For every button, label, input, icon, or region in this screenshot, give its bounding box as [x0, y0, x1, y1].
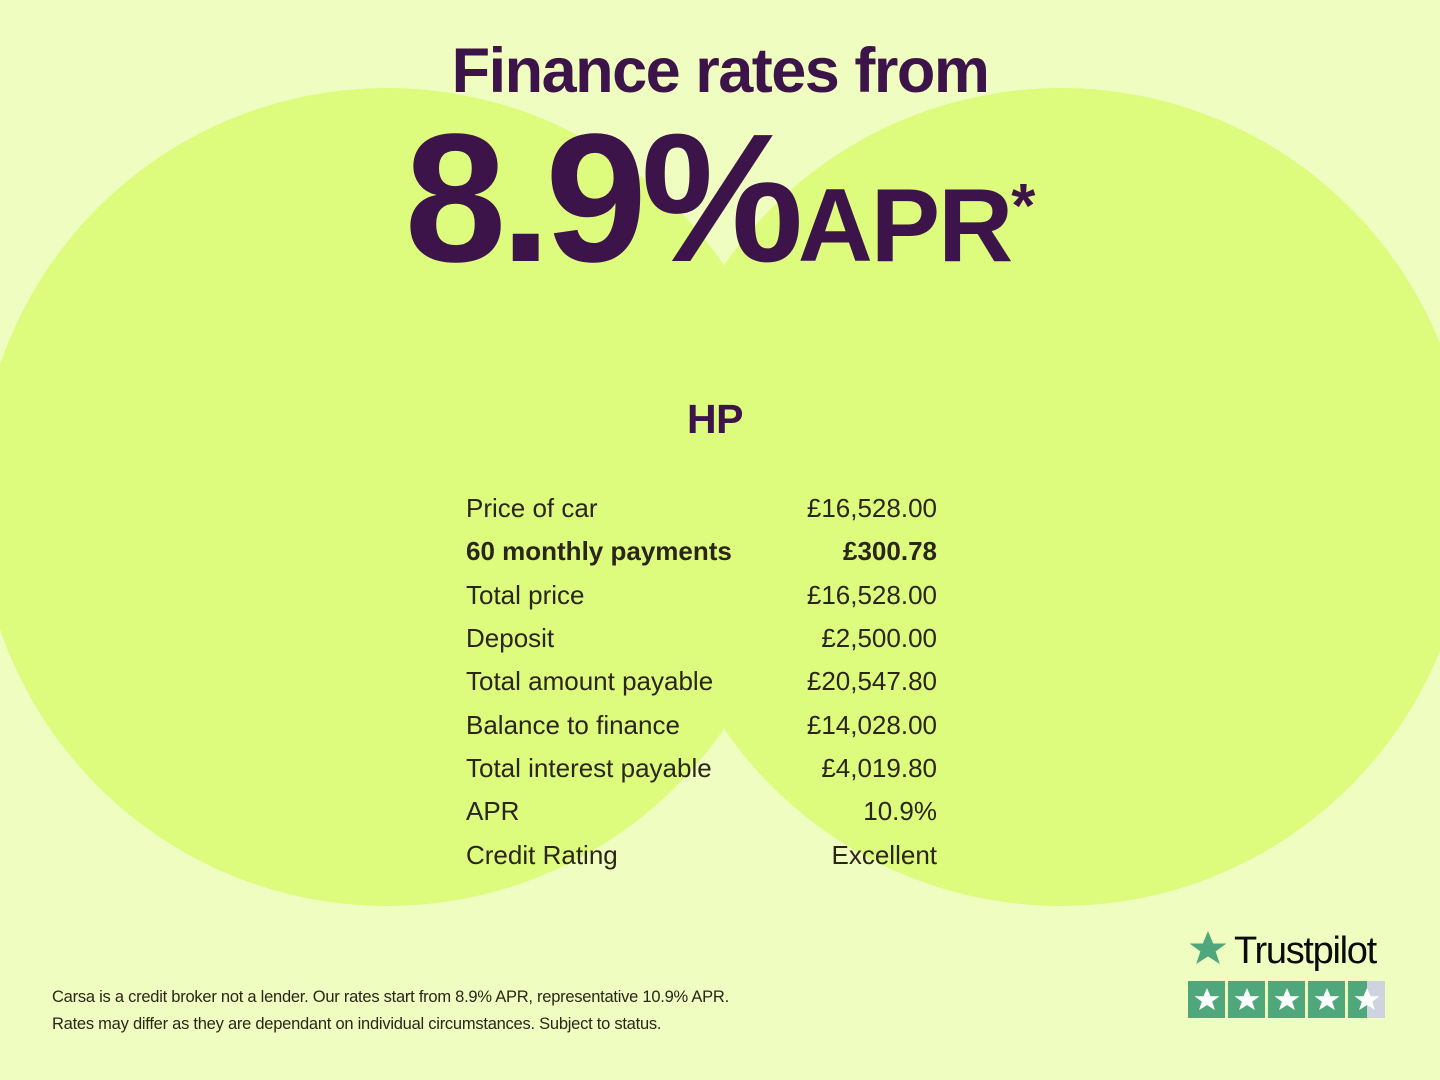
headline-rate: 8.9%APR* [0, 104, 1440, 289]
trustpilot-badge[interactable]: Trustpilot [1188, 928, 1394, 1018]
finance-breakdown-table: Price of car£16,528.0060 monthly payment… [440, 487, 980, 877]
page-title: Finance rates from [0, 0, 1440, 104]
table-row: Credit RatingExcellent [440, 833, 980, 876]
disclaimer-line-1: Carsa is a credit broker not a lender. O… [52, 984, 812, 1011]
hero-section: Finance rates from 8.9%APR* [0, 0, 1440, 289]
row-label: Balance to finance [440, 703, 779, 746]
row-label: Total amount payable [440, 660, 779, 703]
row-label: Total interest payable [440, 747, 779, 790]
row-value: £4,019.80 [779, 747, 980, 790]
row-label: Deposit [440, 617, 779, 660]
table-row: Total amount payable£20,547.80 [440, 660, 980, 703]
trustpilot-wordmark: Trustpilot [1188, 928, 1394, 974]
rating-star-half [1348, 981, 1385, 1018]
trustpilot-rating-stars [1188, 981, 1394, 1018]
table-row: 60 monthly payments£300.78 [440, 530, 980, 573]
row-value: 10.9% [779, 790, 980, 833]
table-row: Balance to finance£14,028.00 [440, 703, 980, 746]
row-label: Price of car [440, 487, 779, 530]
trustpilot-name: Trustpilot [1234, 932, 1376, 970]
row-value: £300.78 [779, 530, 980, 573]
disclaimer-line-2: Rates may differ as they are dependant o… [52, 1011, 812, 1038]
finance-panel: HP Price of car£16,528.0060 monthly paym… [440, 396, 980, 877]
row-label: Credit Rating [440, 833, 779, 876]
table-row: Deposit£2,500.00 [440, 617, 980, 660]
row-value: Excellent [779, 833, 980, 876]
rating-star-full [1228, 981, 1265, 1018]
rating-star-full [1308, 981, 1345, 1018]
row-value: £16,528.00 [779, 487, 980, 530]
row-value: £2,500.00 [779, 617, 980, 660]
row-value: £16,528.00 [779, 574, 980, 617]
table-row: Total interest payable£4,019.80 [440, 747, 980, 790]
finance-product-title: HP [440, 396, 980, 443]
rating-star-full [1268, 981, 1305, 1018]
row-label: Total price [440, 574, 779, 617]
rating-star-full [1188, 981, 1225, 1018]
row-value: £14,028.00 [779, 703, 980, 746]
row-label: APR [440, 790, 779, 833]
row-label: 60 monthly payments [440, 530, 779, 573]
table-row: APR10.9% [440, 790, 980, 833]
trustpilot-star-icon [1188, 929, 1228, 974]
table-row: Total price£16,528.00 [440, 574, 980, 617]
row-value: £20,547.80 [779, 660, 980, 703]
disclaimer-text: Carsa is a credit broker not a lender. O… [52, 984, 812, 1037]
table-row: Price of car£16,528.00 [440, 487, 980, 530]
rate-value: 8.9% [405, 95, 798, 300]
rate-asterisk: * [1011, 172, 1035, 241]
rate-unit: APR [798, 168, 1012, 284]
